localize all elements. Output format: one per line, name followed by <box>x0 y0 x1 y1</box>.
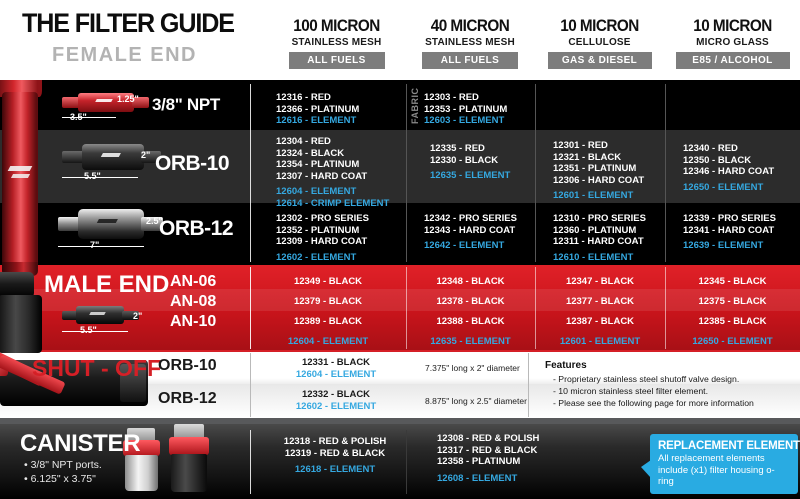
column-header-100-micron: 100 MICRON STAINLESS MESH ALL FUELS <box>267 16 406 69</box>
cell-npt-100micron: 12316 - RED 12366 - PLATINUM 12616 - ELE… <box>276 92 359 127</box>
cell-orb10-100micron: 12304 - RED 12324 - BLACK 12354 - PLATIN… <box>276 136 389 210</box>
cell-shutoff-orb10-parts: 12331 - BLACK 12604 - ELEMENT <box>250 357 422 380</box>
row-label-orb12: ORB-12 <box>159 217 233 241</box>
column-header-40-micron: 40 MICRON STAINLESS MESH ALL FUELS <box>406 16 534 69</box>
cell-male-element-40micron: 12635 - ELEMENT <box>406 336 535 348</box>
cell-orb12-10micron-microglass: 12339 - PRO SERIES 12341 - HARD COAT 126… <box>683 213 776 252</box>
col-subtitle: STAINLESS MESH <box>267 37 406 48</box>
cell-an10-10micron-microglass: 12385 - BLACK <box>665 316 800 328</box>
replacement-elements-tooltip: REPLACEMENT ELEMENTS All replacement ele… <box>650 434 798 494</box>
cell-an10-40micron: 12388 - BLACK <box>406 316 535 328</box>
section-subtitle: FEMALE END <box>52 44 197 67</box>
divider-shutoff-2 <box>528 353 529 417</box>
cell-canister-10micron-cellulose: 12308 - RED & POLISH 12317 - RED & BLACK… <box>437 433 539 484</box>
canister-photo-black <box>168 424 210 494</box>
cell-an08-10micron-cellulose: 12377 - BLACK <box>535 296 665 308</box>
tooltip-body: All replacement elements include (x1) fi… <box>650 452 798 494</box>
cell-shutoff-orb12-parts: 12332 - BLACK 12602 - ELEMENT <box>250 389 422 412</box>
cell-an08-10micron-microglass: 12375 - BLACK <box>665 296 800 308</box>
row-label-orb10: ORB-10 <box>155 152 229 176</box>
canister-bullets: • 3/8" NPT ports. • 6.125" x 3.75" <box>24 458 102 486</box>
dim-diameter-male: 2" <box>133 311 142 321</box>
col-title: 100 MICRON <box>274 16 399 36</box>
cell-canister-100micron: 12318 - RED & POLISH 12319 - RED & BLACK… <box>264 436 406 476</box>
feature-item: - Please see the following page for more… <box>553 397 754 409</box>
cell-male-element-10micron-cellulose: 12601 - ELEMENT <box>535 336 665 348</box>
dim-length-orb12: 7" <box>90 240 99 250</box>
shutoff-size-orb12: 8.875" long x 2.5" diameter <box>425 396 527 406</box>
cell-an06-40micron: 12348 - BLACK <box>406 276 535 288</box>
column-header-10-micron-microglass: 10 MICRON MICRO GLASS E85 / ALCOHOL <box>665 16 800 69</box>
cell-orb10-10micron-microglass: 12340 - RED 12350 - BLACK 12346 - HARD C… <box>683 143 774 193</box>
row-label-shutoff-orb10: ORB-10 <box>158 357 217 375</box>
filter-guide-page: THE FILTER GUIDE FEMALE END 100 MICRON S… <box>0 0 800 499</box>
cell-orb12-40micron: 12342 - PRO SERIES 12343 - HARD COAT 126… <box>424 213 517 252</box>
dim-line-len-orb12 <box>58 246 144 247</box>
row-label-npt: 3/8" NPT <box>152 95 220 115</box>
col-subtitle: STAINLESS MESH <box>406 37 534 48</box>
page-title: THE FILTER GUIDE <box>22 8 234 39</box>
cell-an08-40micron: 12378 - BLACK <box>406 296 535 308</box>
divider-1 <box>250 84 251 262</box>
dim-length-orb10: 5.5" <box>84 171 101 181</box>
shutoff-title: SHUT - OFF <box>32 355 161 382</box>
row-label-an10: AN-10 <box>170 313 216 331</box>
cell-an06-100micron: 12349 - BLACK <box>250 276 406 288</box>
row-label-an06: AN-06 <box>170 273 216 291</box>
fabric-label: FABRIC <box>410 92 420 124</box>
col-pill: E85 / ALCOHOL <box>676 52 790 69</box>
canister-bullet: • 3/8" NPT ports. <box>24 458 102 472</box>
col-subtitle: CELLULOSE <box>534 37 665 48</box>
cell-an10-100micron: 12389 - BLACK <box>250 316 406 328</box>
cell-an10-10micron-cellulose: 12387 - BLACK <box>535 316 665 328</box>
feature-item: - 10 micron stainless steel filter eleme… <box>553 385 754 397</box>
cell-an08-100micron: 12379 - BLACK <box>250 296 406 308</box>
dim-diameter-npt: 1.25" <box>117 94 139 104</box>
canister-bullet: • 6.125" x 3.75" <box>24 472 102 486</box>
cell-male-element-100micron: 12604 - ELEMENT <box>250 336 406 348</box>
divider-2 <box>406 84 407 262</box>
col-pill: ALL FUELS <box>422 52 518 69</box>
canister-title: CANISTER <box>20 430 140 458</box>
cell-an06-10micron-microglass: 12345 - BLACK <box>665 276 800 288</box>
divider-4 <box>665 84 666 262</box>
col-pill: ALL FUELS <box>289 52 385 69</box>
features-title: Features <box>545 360 587 371</box>
features-list: - Proprietary stainless steel shutoff va… <box>553 373 754 409</box>
male-end-title: MALE END <box>44 271 169 299</box>
dim-diameter-orb10: 2" <box>141 150 150 160</box>
col-title: 40 MICRON <box>412 16 527 36</box>
divider-3 <box>535 84 536 262</box>
header: THE FILTER GUIDE FEMALE END 100 MICRON S… <box>0 0 800 80</box>
col-title: 10 MICRON <box>672 16 794 36</box>
col-title: 10 MICRON <box>541 16 659 36</box>
dim-length-male: 5.5" <box>80 325 97 335</box>
feature-item: - Proprietary stainless steel shutoff va… <box>553 373 754 385</box>
row-label-shutoff-orb12: ORB-12 <box>158 390 217 408</box>
cell-orb10-10micron-cellulose: 12301 - RED 12321 - BLACK 12351 - PLATIN… <box>553 140 644 202</box>
cell-orb12-10micron-cellulose: 12310 - PRO SERIES 12360 - PLATINUM 1231… <box>553 213 646 263</box>
cell-npt-40micron: 12303 - RED 12353 - PLATINUM 12603 - ELE… <box>424 92 507 127</box>
row-label-an08: AN-08 <box>170 293 216 311</box>
col-subtitle: MICRO GLASS <box>665 37 800 48</box>
dim-length-npt: 3.5" <box>70 112 87 122</box>
cell-an06-10micron-cellulose: 12347 - BLACK <box>535 276 665 288</box>
tooltip-title: REPLACEMENT ELEMENTS <box>650 434 798 452</box>
col-pill: GAS & DIESEL <box>548 52 652 69</box>
divider-canister-2 <box>406 430 407 494</box>
filter-photo-male <box>62 305 140 325</box>
cell-orb12-100micron: 12302 - PRO SERIES 12352 - PLATINUM 1230… <box>276 213 369 263</box>
cell-male-element-10micron-microglass: 12650 - ELEMENT <box>665 336 800 348</box>
cell-orb10-40micron: 12335 - RED 12330 - BLACK 12635 - ELEMEN… <box>430 143 510 182</box>
shutoff-size-orb10: 7.375" long x 2" diameter <box>425 363 520 373</box>
column-header-10-micron-cellulose: 10 MICRON CELLULOSE GAS & DIESEL <box>534 16 665 69</box>
tooltip-tail-icon <box>641 460 651 478</box>
divider-canister-1 <box>250 430 251 494</box>
